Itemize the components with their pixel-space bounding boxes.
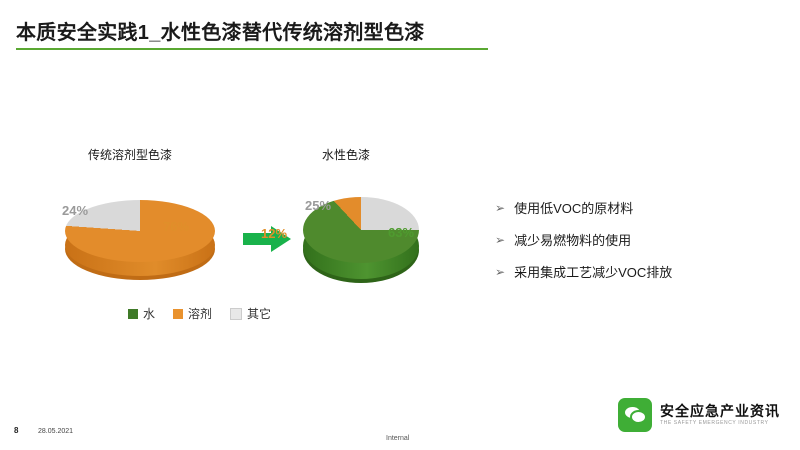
pie-right-value-solvent: 12% xyxy=(261,226,287,241)
wechat-account-subtitle: THE SAFETY EMERGENCY INDUSTRY xyxy=(660,421,780,427)
slide: 本质安全实践1_水性色漆替代传统溶剂型色漆 传统溶剂型色漆 24% 76% 水性… xyxy=(0,0,800,450)
bullet-text: 减少易燃物料的使用 xyxy=(514,232,631,249)
legend-label-water: 水 xyxy=(143,305,155,322)
bullet-item: ➢ 采用集成工艺减少VOC排放 xyxy=(495,264,785,281)
footer-date: 28.05.2021 xyxy=(38,428,73,435)
legend-swatch-water xyxy=(128,309,138,319)
legend-swatch-solvent xyxy=(173,309,183,319)
bullet-marker-icon: ➢ xyxy=(495,200,505,217)
wechat-badge: 安全应急产业资讯 THE SAFETY EMERGENCY INDUSTRY xyxy=(618,398,780,432)
wechat-text: 安全应急产业资讯 THE SAFETY EMERGENCY INDUSTRY xyxy=(660,404,780,427)
pie-right-value-other: 25% xyxy=(305,198,331,213)
bullet-item: ➢ 使用低VOC的原材料 xyxy=(495,200,785,217)
footer-classification: Internal xyxy=(386,435,409,442)
chart-title-right: 水性色漆 xyxy=(322,146,370,163)
bullet-text: 使用低VOC的原材料 xyxy=(514,200,633,217)
legend-label-other: 其它 xyxy=(247,305,271,322)
legend-item-water: 水 xyxy=(128,305,155,322)
legend-label-solvent: 溶剂 xyxy=(188,305,212,322)
bullet-list: ➢ 使用低VOC的原材料 ➢ 减少易燃物料的使用 ➢ 采用集成工艺减少VOC排放 xyxy=(495,200,785,296)
bullet-text: 采用集成工艺减少VOC排放 xyxy=(514,264,672,281)
legend-swatch-other xyxy=(230,308,242,320)
bullet-marker-icon: ➢ xyxy=(495,232,505,249)
pie-right-value-water: 63% xyxy=(388,225,414,240)
chart-title-left: 传统溶剂型色漆 xyxy=(88,146,172,163)
pie-left-value-other: 24% xyxy=(62,203,88,218)
bullet-item: ➢ 减少易燃物料的使用 xyxy=(495,232,785,249)
wechat-account-name: 安全应急产业资讯 xyxy=(660,404,780,419)
pie-left-value-solvent: 76% xyxy=(163,219,189,234)
legend-item-other: 其它 xyxy=(230,305,271,322)
legend-item-solvent: 溶剂 xyxy=(173,305,212,322)
page-number: 8 xyxy=(14,426,18,435)
bullet-marker-icon: ➢ xyxy=(495,264,505,281)
chart-legend: 水 溶剂 其它 xyxy=(128,305,271,322)
wechat-icon xyxy=(618,398,652,432)
